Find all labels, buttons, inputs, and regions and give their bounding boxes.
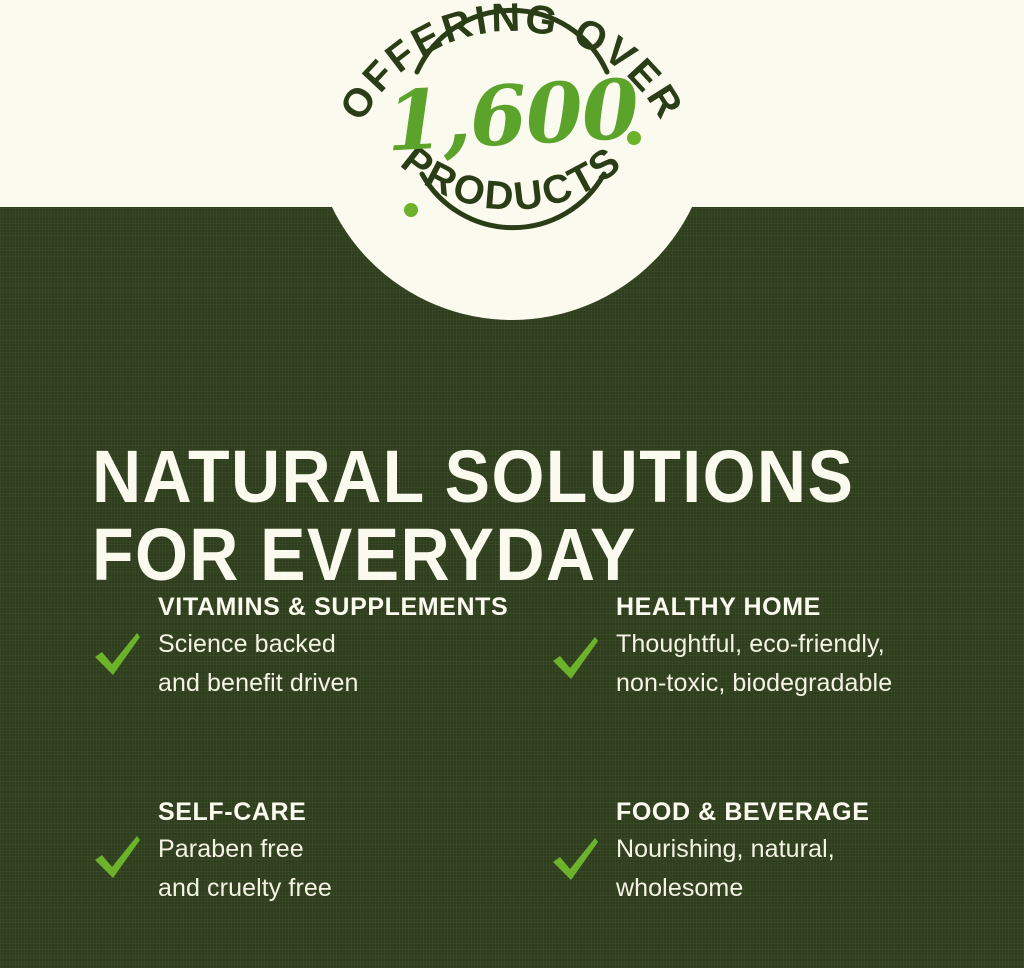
feature-description-line-2: wholesome (616, 869, 988, 908)
feature-item-food-beverage: FOOD & BEVERAGE Nourishing, natural, who… (540, 797, 988, 908)
offering-badge: OFFERING OVER PRODUCTS 1,600 (312, 0, 712, 320)
feature-title: VITAMINS & SUPPLEMENTS (158, 592, 540, 623)
page-title-line-1: NATURAL SOLUTIONS (92, 435, 854, 518)
feature-description-line-1: Paraben free (158, 830, 540, 869)
check-icon (90, 829, 146, 885)
badge-dot-left (404, 203, 418, 217)
check-icon (548, 630, 604, 686)
page-title: NATURAL SOLUTIONS FOR EVERYDAY (92, 438, 902, 594)
feature-title: HEALTHY HOME (616, 592, 988, 623)
feature-description: Nourishing, natural, wholesome (616, 830, 988, 908)
feature-title: SELF-CARE (158, 797, 540, 828)
feature-title: FOOD & BEVERAGE (616, 797, 988, 828)
feature-item-healthy-home: HEALTHY HOME Thoughtful, eco-friendly, n… (540, 592, 988, 797)
feature-description: Thoughtful, eco-friendly, non-toxic, bio… (616, 625, 988, 703)
promo-banner: OFFERING OVER PRODUCTS 1,600 NATURAL SOL… (0, 0, 1024, 968)
feature-description-line-1: Nourishing, natural, (616, 830, 988, 869)
check-icon (90, 626, 146, 682)
feature-item-self-care: SELF-CARE Paraben free and cruelty free (88, 797, 540, 908)
feature-description-line-2: and cruelty free (158, 869, 540, 908)
feature-description-line-1: Science backed (158, 625, 540, 664)
feature-description: Science backed and benefit driven (158, 625, 540, 703)
feature-grid: VITAMINS & SUPPLEMENTS Science backed an… (88, 592, 988, 908)
feature-description-line-1: Thoughtful, eco-friendly, (616, 625, 988, 664)
feature-item-vitamins-supplements: VITAMINS & SUPPLEMENTS Science backed an… (88, 592, 540, 797)
feature-description: Paraben free and cruelty free (158, 830, 540, 908)
feature-description-line-2: non-toxic, biodegradable (616, 664, 988, 703)
check-icon (548, 831, 604, 887)
page-title-line-2: FOR EVERYDAY (92, 516, 902, 594)
feature-description-line-2: and benefit driven (158, 664, 540, 703)
